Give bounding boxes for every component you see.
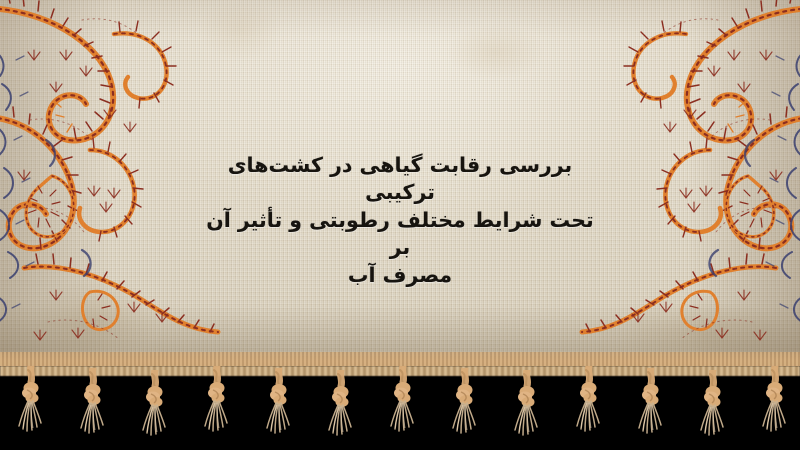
fringe-tassel <box>634 368 668 450</box>
fringe-tassel <box>14 366 48 450</box>
fringe-tassel <box>138 370 172 450</box>
title-card-canvas: بررسی رقابت گیاهی در کشت‌های ترکیبی تحت … <box>0 0 800 450</box>
tassel-fringe <box>0 366 800 450</box>
fringe-tassel <box>448 368 482 450</box>
fringe-tassel <box>324 370 358 450</box>
fringe-tassel <box>510 370 544 450</box>
fringe-tassel <box>200 366 234 450</box>
textile-background: بررسی رقابت گیاهی در کشت‌های ترکیبی تحت … <box>0 0 800 372</box>
page-title: بررسی رقابت گیاهی در کشت‌های ترکیبی تحت … <box>200 152 600 289</box>
fringe-tassel <box>262 368 296 450</box>
fringe-tassel <box>696 370 730 450</box>
fringe-tassel <box>386 366 420 450</box>
fringe-tassel <box>572 366 606 450</box>
fringe-tassel <box>758 366 792 450</box>
fringe-tassel <box>76 368 110 450</box>
